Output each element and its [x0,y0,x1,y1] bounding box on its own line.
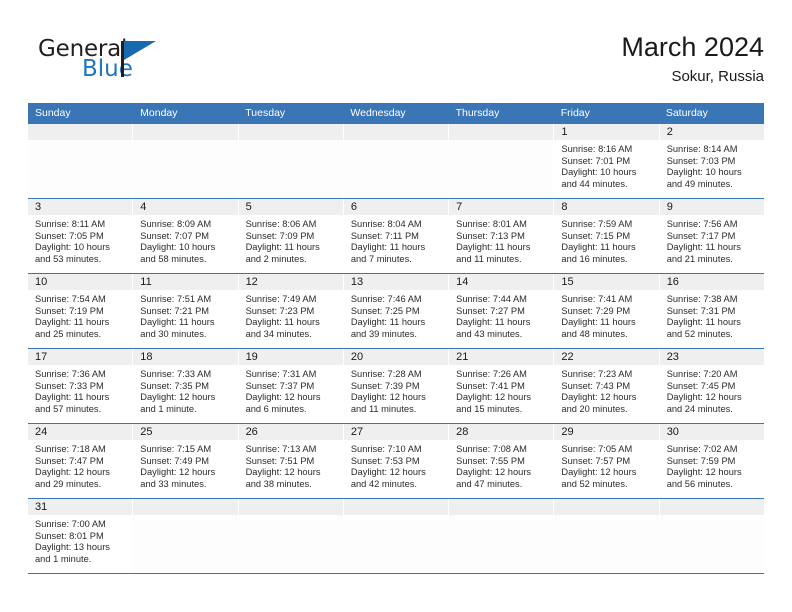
day-number-slot: 20 [344,349,448,366]
day-daylight-text: and 20 minutes. [561,404,652,416]
calendar-day-cell[interactable]: 3Sunrise: 8:11 AMSunset: 7:05 PMDaylight… [28,199,133,273]
day-daylight-text: and 58 minutes. [140,254,231,266]
calendar-day-cell[interactable]: 18Sunrise: 7:33 AMSunset: 7:35 PMDayligh… [133,349,238,423]
day-daylight-text: and 33 minutes. [140,479,231,491]
calendar-day-cell-empty [239,124,344,198]
day-details: Sunrise: 8:14 AMSunset: 7:03 PMDaylight:… [660,141,764,198]
day-number-slot [449,124,553,141]
day-number: 23 [660,349,764,366]
calendar-day-cell[interactable]: 9Sunrise: 7:56 AMSunset: 7:17 PMDaylight… [660,199,764,273]
day-daylight-text: Daylight: 10 hours [667,167,758,179]
day-daylight-text: Daylight: 12 hours [561,467,652,479]
calendar-day-cell-empty [133,124,238,198]
day-daylight-text: Daylight: 11 hours [246,317,337,329]
day-daylight-text: and 57 minutes. [35,404,126,416]
day-details: Sunrise: 8:04 AMSunset: 7:11 PMDaylight:… [344,216,448,273]
weekday-header-wednesday: Wednesday [343,103,448,124]
day-number: 8 [554,199,658,216]
day-details: Sunrise: 7:13 AMSunset: 7:51 PMDaylight:… [239,441,343,498]
calendar-day-cell[interactable]: 15Sunrise: 7:41 AMSunset: 7:29 PMDayligh… [554,274,659,348]
calendar-day-cell-empty [449,499,554,573]
day-daylight-text: Daylight: 12 hours [140,467,231,479]
day-sunrise-text: Sunrise: 8:09 AM [140,219,231,231]
day-number: 27 [344,424,448,441]
day-number: 26 [239,424,343,441]
weekday-header-tuesday: Tuesday [238,103,343,124]
day-number-slot [660,499,764,516]
day-daylight-text: Daylight: 12 hours [456,392,547,404]
day-sunrise-text: Sunrise: 7:36 AM [35,369,126,381]
day-daylight-text: and 11 minutes. [351,404,442,416]
day-number-slot: 23 [660,349,764,366]
day-daylight-text: and 47 minutes. [456,479,547,491]
day-daylight-text: and 34 minutes. [246,329,337,341]
triangle-flag-icon [124,41,156,60]
day-number-slot: 1 [554,124,658,141]
day-details [239,141,343,198]
weekday-header-row: SundayMondayTuesdayWednesdayThursdayFrid… [28,103,764,124]
day-number-slot: 2 [660,124,764,141]
day-sunrise-text: Sunrise: 7:56 AM [667,219,758,231]
day-number-slot [344,124,448,141]
day-number: 9 [660,199,764,216]
day-daylight-text: and 11 minutes. [456,254,547,266]
day-number: 14 [449,274,553,291]
general-blue-logo[interactable]: General Blue [38,38,228,90]
day-sunrise-text: Sunrise: 8:06 AM [246,219,337,231]
day-number-slot: 17 [28,349,132,366]
day-details: Sunrise: 7:36 AMSunset: 7:33 PMDaylight:… [28,366,132,423]
day-details: Sunrise: 7:05 AMSunset: 7:57 PMDaylight:… [554,441,658,498]
calendar-day-cell-empty [239,499,344,573]
day-sunset-text: Sunset: 7:19 PM [35,306,126,318]
day-daylight-text: and 21 minutes. [667,254,758,266]
day-details [133,141,237,198]
calendar-day-cell[interactable]: 12Sunrise: 7:49 AMSunset: 7:23 PMDayligh… [239,274,344,348]
day-sunrise-text: Sunrise: 7:31 AM [246,369,337,381]
day-daylight-text: and 30 minutes. [140,329,231,341]
day-sunrise-text: Sunrise: 7:41 AM [561,294,652,306]
calendar-day-cell[interactable]: 19Sunrise: 7:31 AMSunset: 7:37 PMDayligh… [239,349,344,423]
day-daylight-text: and 52 minutes. [561,479,652,491]
day-daylight-text: Daylight: 10 hours [140,242,231,254]
day-details [344,516,448,573]
day-sunrise-text: Sunrise: 7:46 AM [351,294,442,306]
day-daylight-text: Daylight: 10 hours [35,242,126,254]
day-number: 21 [449,349,553,366]
calendar-day-cell-empty [554,499,659,573]
day-daylight-text: and 48 minutes. [561,329,652,341]
location-subtitle: Sokur, Russia [621,66,764,88]
day-sunset-text: Sunset: 7:07 PM [140,231,231,243]
day-number: 20 [344,349,448,366]
day-sunset-text: Sunset: 7:03 PM [667,156,758,168]
day-details: Sunrise: 7:33 AMSunset: 7:35 PMDaylight:… [133,366,237,423]
day-sunset-text: Sunset: 7:27 PM [456,306,547,318]
day-details: Sunrise: 8:06 AMSunset: 7:09 PMDaylight:… [239,216,343,273]
day-sunrise-text: Sunrise: 7:10 AM [351,444,442,456]
day-sunrise-text: Sunrise: 8:01 AM [456,219,547,231]
calendar-day-cell[interactable]: 21Sunrise: 7:26 AMSunset: 7:41 PMDayligh… [449,349,554,423]
logo-text-blue: Blue [82,58,228,81]
day-number: 30 [660,424,764,441]
day-daylight-text: Daylight: 11 hours [561,317,652,329]
day-daylight-text: Daylight: 11 hours [351,317,442,329]
day-details: Sunrise: 7:10 AMSunset: 7:53 PMDaylight:… [344,441,448,498]
day-number-slot: 6 [344,199,448,216]
day-details: Sunrise: 8:11 AMSunset: 7:05 PMDaylight:… [28,216,132,273]
day-sunset-text: Sunset: 7:49 PM [140,456,231,468]
day-daylight-text: and 1 minute. [35,554,126,566]
day-daylight-text: Daylight: 11 hours [351,242,442,254]
day-sunset-text: Sunset: 7:59 PM [667,456,758,468]
day-number-slot: 30 [660,424,764,441]
calendar-body: 1Sunrise: 8:16 AMSunset: 7:01 PMDaylight… [28,124,764,574]
weekday-header-monday: Monday [133,103,238,124]
day-daylight-text: Daylight: 12 hours [667,392,758,404]
calendar-day-cell[interactable]: 16Sunrise: 7:38 AMSunset: 7:31 PMDayligh… [660,274,764,348]
day-number-slot: 7 [449,199,553,216]
day-sunset-text: Sunset: 7:15 PM [561,231,652,243]
day-details [133,516,237,573]
calendar-day-cell[interactable]: 13Sunrise: 7:46 AMSunset: 7:25 PMDayligh… [344,274,449,348]
day-details: Sunrise: 7:51 AMSunset: 7:21 PMDaylight:… [133,291,237,348]
day-sunset-text: Sunset: 7:37 PM [246,381,337,393]
day-number-slot: 25 [133,424,237,441]
day-sunset-text: Sunset: 7:51 PM [246,456,337,468]
day-number-slot [133,124,237,141]
day-daylight-text: and 56 minutes. [667,479,758,491]
day-daylight-text: Daylight: 12 hours [246,392,337,404]
calendar-week-row: 3Sunrise: 8:11 AMSunset: 7:05 PMDaylight… [28,198,764,273]
day-number: 16 [660,274,764,291]
day-number: 28 [449,424,553,441]
calendar-day-cell[interactable]: 10Sunrise: 7:54 AMSunset: 7:19 PMDayligh… [28,274,133,348]
day-daylight-text: Daylight: 11 hours [246,242,337,254]
day-sunset-text: Sunset: 7:41 PM [456,381,547,393]
day-details [660,516,764,573]
day-number-slot [239,499,343,516]
calendar-day-cell[interactable]: 24Sunrise: 7:18 AMSunset: 7:47 PMDayligh… [28,424,133,498]
day-details: Sunrise: 7:23 AMSunset: 7:43 PMDaylight:… [554,366,658,423]
day-daylight-text: Daylight: 11 hours [35,392,126,404]
calendar-day-cell[interactable]: 31Sunrise: 7:00 AMSunset: 8:01 PMDayligh… [28,499,133,573]
title-block: March 2024 Sokur, Russia [621,30,764,88]
day-number-slot [344,499,448,516]
day-number: 25 [133,424,237,441]
day-sunset-text: Sunset: 7:47 PM [35,456,126,468]
day-details: Sunrise: 7:00 AMSunset: 8:01 PMDaylight:… [28,516,132,573]
day-number: 6 [344,199,448,216]
page-title: March 2024 [621,30,764,64]
day-sunrise-text: Sunrise: 7:20 AM [667,369,758,381]
day-sunrise-text: Sunrise: 7:23 AM [561,369,652,381]
day-number-slot: 9 [660,199,764,216]
day-daylight-text: Daylight: 12 hours [351,392,442,404]
day-daylight-text: and 29 minutes. [35,479,126,491]
day-details [449,516,553,573]
day-sunset-text: Sunset: 7:31 PM [667,306,758,318]
calendar-day-cell-empty [344,499,449,573]
day-number-slot: 22 [554,349,658,366]
day-number-slot: 8 [554,199,658,216]
day-sunset-text: Sunset: 7:23 PM [246,306,337,318]
day-number: 10 [28,274,132,291]
day-daylight-text: Daylight: 11 hours [667,242,758,254]
day-details [344,141,448,198]
day-sunrise-text: Sunrise: 7:02 AM [667,444,758,456]
day-sunrise-text: Sunrise: 8:14 AM [667,144,758,156]
day-number: 18 [133,349,237,366]
day-sunrise-text: Sunrise: 7:59 AM [561,219,652,231]
day-daylight-text: and 24 minutes. [667,404,758,416]
calendar-day-cell[interactable]: 4Sunrise: 8:09 AMSunset: 7:07 PMDaylight… [133,199,238,273]
day-number: 24 [28,424,132,441]
calendar-day-cell-empty [344,124,449,198]
day-details: Sunrise: 8:09 AMSunset: 7:07 PMDaylight:… [133,216,237,273]
day-daylight-text: Daylight: 11 hours [561,242,652,254]
day-daylight-text: Daylight: 12 hours [667,467,758,479]
day-details: Sunrise: 7:54 AMSunset: 7:19 PMDaylight:… [28,291,132,348]
day-sunset-text: Sunset: 7:25 PM [351,306,442,318]
day-details: Sunrise: 7:44 AMSunset: 7:27 PMDaylight:… [449,291,553,348]
calendar-page: General Blue March 2024 Sokur, Russia Su… [0,0,792,612]
calendar-week-row: 24Sunrise: 7:18 AMSunset: 7:47 PMDayligh… [28,423,764,498]
day-sunrise-text: Sunrise: 7:08 AM [456,444,547,456]
day-number: 22 [554,349,658,366]
day-sunset-text: Sunset: 7:39 PM [351,381,442,393]
day-number: 15 [554,274,658,291]
day-number-slot: 18 [133,349,237,366]
day-details: Sunrise: 7:26 AMSunset: 7:41 PMDaylight:… [449,366,553,423]
day-details: Sunrise: 7:02 AMSunset: 7:59 PMDaylight:… [660,441,764,498]
day-number-slot: 27 [344,424,448,441]
day-sunset-text: Sunset: 7:09 PM [246,231,337,243]
day-daylight-text: and 25 minutes. [35,329,126,341]
calendar-day-cell[interactable]: 11Sunrise: 7:51 AMSunset: 7:21 PMDayligh… [133,274,238,348]
calendar-week-row: 31Sunrise: 7:00 AMSunset: 8:01 PMDayligh… [28,498,764,574]
day-daylight-text: Daylight: 12 hours [351,467,442,479]
calendar-day-cell[interactable]: 5Sunrise: 8:06 AMSunset: 7:09 PMDaylight… [239,199,344,273]
day-sunset-text: Sunset: 7:43 PM [561,381,652,393]
day-sunrise-text: Sunrise: 8:16 AM [561,144,652,156]
calendar-day-cell-empty [28,124,133,198]
day-number-slot: 16 [660,274,764,291]
day-details: Sunrise: 7:28 AMSunset: 7:39 PMDaylight:… [344,366,448,423]
day-details: Sunrise: 7:18 AMSunset: 7:47 PMDaylight:… [28,441,132,498]
day-daylight-text: and 43 minutes. [456,329,547,341]
day-number-slot: 13 [344,274,448,291]
day-number-slot: 11 [133,274,237,291]
day-number-slot: 10 [28,274,132,291]
day-number-slot: 4 [133,199,237,216]
day-daylight-text: Daylight: 11 hours [456,317,547,329]
day-daylight-text: Daylight: 13 hours [35,542,126,554]
day-daylight-text: and 15 minutes. [456,404,547,416]
day-daylight-text: Daylight: 12 hours [456,467,547,479]
day-sunset-text: Sunset: 7:05 PM [35,231,126,243]
calendar-day-cell[interactable]: 25Sunrise: 7:15 AMSunset: 7:49 PMDayligh… [133,424,238,498]
calendar-day-cell[interactable]: 6Sunrise: 8:04 AMSunset: 7:11 PMDaylight… [344,199,449,273]
calendar-day-cell[interactable]: 8Sunrise: 7:59 AMSunset: 7:15 PMDaylight… [554,199,659,273]
day-sunrise-text: Sunrise: 7:51 AM [140,294,231,306]
day-daylight-text: Daylight: 11 hours [35,317,126,329]
day-details: Sunrise: 7:56 AMSunset: 7:17 PMDaylight:… [660,216,764,273]
day-number: 5 [239,199,343,216]
calendar-week-row: 1Sunrise: 8:16 AMSunset: 7:01 PMDaylight… [28,124,764,198]
day-sunrise-text: Sunrise: 7:54 AM [35,294,126,306]
calendar-week-row: 10Sunrise: 7:54 AMSunset: 7:19 PMDayligh… [28,273,764,348]
day-number: 2 [660,124,764,141]
calendar-day-cell[interactable]: 30Sunrise: 7:02 AMSunset: 7:59 PMDayligh… [660,424,764,498]
day-sunset-text: Sunset: 7:55 PM [456,456,547,468]
day-number: 17 [28,349,132,366]
day-number: 7 [449,199,553,216]
day-details: Sunrise: 7:49 AMSunset: 7:23 PMDaylight:… [239,291,343,348]
day-details [239,516,343,573]
day-daylight-text: and 1 minute. [140,404,231,416]
day-sunset-text: Sunset: 7:29 PM [561,306,652,318]
day-sunset-text: Sunset: 7:13 PM [456,231,547,243]
calendar-week-row: 17Sunrise: 7:36 AMSunset: 7:33 PMDayligh… [28,348,764,423]
day-sunrise-text: Sunrise: 7:28 AM [351,369,442,381]
day-number-slot [239,124,343,141]
day-daylight-text: and 52 minutes. [667,329,758,341]
day-sunrise-text: Sunrise: 7:49 AM [246,294,337,306]
calendar-day-cell[interactable]: 28Sunrise: 7:08 AMSunset: 7:55 PMDayligh… [449,424,554,498]
day-daylight-text: and 2 minutes. [246,254,337,266]
day-number: 3 [28,199,132,216]
calendar-day-cell[interactable]: 2Sunrise: 8:14 AMSunset: 7:03 PMDaylight… [660,124,764,198]
day-sunset-text: Sunset: 7:53 PM [351,456,442,468]
day-sunset-text: Sunset: 8:01 PM [35,531,126,543]
calendar-day-cell-empty [133,499,238,573]
weekday-header-saturday: Saturday [659,103,764,124]
calendar-day-cell[interactable]: 1Sunrise: 8:16 AMSunset: 7:01 PMDaylight… [554,124,659,198]
day-number: 12 [239,274,343,291]
day-number: 11 [133,274,237,291]
day-daylight-text: Daylight: 12 hours [561,392,652,404]
day-number-slot [449,499,553,516]
day-daylight-text: and 7 minutes. [351,254,442,266]
calendar-day-cell[interactable]: 26Sunrise: 7:13 AMSunset: 7:51 PMDayligh… [239,424,344,498]
day-daylight-text: Daylight: 12 hours [246,467,337,479]
day-daylight-text: Daylight: 11 hours [140,317,231,329]
day-sunrise-text: Sunrise: 7:26 AM [456,369,547,381]
calendar-day-cell-empty [660,499,764,573]
day-sunrise-text: Sunrise: 8:04 AM [351,219,442,231]
day-number: 13 [344,274,448,291]
day-number: 4 [133,199,237,216]
day-number-slot: 26 [239,424,343,441]
day-daylight-text: Daylight: 10 hours [561,167,652,179]
day-details: Sunrise: 7:31 AMSunset: 7:37 PMDaylight:… [239,366,343,423]
day-sunrise-text: Sunrise: 7:05 AM [561,444,652,456]
weekday-header-friday: Friday [554,103,659,124]
day-daylight-text: and 38 minutes. [246,479,337,491]
day-sunrise-text: Sunrise: 7:15 AM [140,444,231,456]
day-daylight-text: Daylight: 12 hours [140,392,231,404]
calendar-day-cell[interactable]: 27Sunrise: 7:10 AMSunset: 7:53 PMDayligh… [344,424,449,498]
day-sunset-text: Sunset: 7:01 PM [561,156,652,168]
day-number-slot: 15 [554,274,658,291]
day-number-slot: 19 [239,349,343,366]
day-sunrise-text: Sunrise: 8:11 AM [35,219,126,231]
calendar-day-cell[interactable]: 17Sunrise: 7:36 AMSunset: 7:33 PMDayligh… [28,349,133,423]
day-sunset-text: Sunset: 7:21 PM [140,306,231,318]
day-sunrise-text: Sunrise: 7:38 AM [667,294,758,306]
day-number: 29 [554,424,658,441]
day-number-slot: 21 [449,349,553,366]
calendar-day-cell[interactable]: 14Sunrise: 7:44 AMSunset: 7:27 PMDayligh… [449,274,554,348]
day-details [449,141,553,198]
day-number-slot: 12 [239,274,343,291]
day-daylight-text: and 42 minutes. [351,479,442,491]
day-number-slot: 31 [28,499,132,516]
day-sunrise-text: Sunrise: 7:13 AM [246,444,337,456]
calendar-day-cell[interactable]: 29Sunrise: 7:05 AMSunset: 7:57 PMDayligh… [554,424,659,498]
day-details [28,141,132,198]
day-sunrise-text: Sunrise: 7:18 AM [35,444,126,456]
day-number-slot [554,499,658,516]
weekday-header-thursday: Thursday [449,103,554,124]
day-number: 19 [239,349,343,366]
day-daylight-text: and 53 minutes. [35,254,126,266]
day-details: Sunrise: 7:46 AMSunset: 7:25 PMDaylight:… [344,291,448,348]
calendar-day-cell[interactable]: 20Sunrise: 7:28 AMSunset: 7:39 PMDayligh… [344,349,449,423]
calendar-day-cell[interactable]: 23Sunrise: 7:20 AMSunset: 7:45 PMDayligh… [660,349,764,423]
day-number-slot: 5 [239,199,343,216]
day-daylight-text: and 49 minutes. [667,179,758,191]
day-number-slot: 3 [28,199,132,216]
day-sunset-text: Sunset: 7:33 PM [35,381,126,393]
masthead: General Blue March 2024 Sokur, Russia [28,30,764,92]
day-details: Sunrise: 8:01 AMSunset: 7:13 PMDaylight:… [449,216,553,273]
day-daylight-text: and 6 minutes. [246,404,337,416]
day-details: Sunrise: 8:16 AMSunset: 7:01 PMDaylight:… [554,141,658,198]
calendar-day-cell-empty [449,124,554,198]
day-details [554,516,658,573]
day-daylight-text: Daylight: 11 hours [456,242,547,254]
day-sunset-text: Sunset: 7:11 PM [351,231,442,243]
weekday-header-sunday: Sunday [28,103,133,124]
calendar-grid: SundayMondayTuesdayWednesdayThursdayFrid… [28,103,764,574]
calendar-day-cell[interactable]: 7Sunrise: 8:01 AMSunset: 7:13 PMDaylight… [449,199,554,273]
day-daylight-text: and 39 minutes. [351,329,442,341]
day-details: Sunrise: 7:38 AMSunset: 7:31 PMDaylight:… [660,291,764,348]
day-sunrise-text: Sunrise: 7:44 AM [456,294,547,306]
calendar-day-cell[interactable]: 22Sunrise: 7:23 AMSunset: 7:43 PMDayligh… [554,349,659,423]
day-number-slot: 29 [554,424,658,441]
day-number-slot [133,499,237,516]
day-details: Sunrise: 7:15 AMSunset: 7:49 PMDaylight:… [133,441,237,498]
day-daylight-text: and 16 minutes. [561,254,652,266]
day-number: 1 [554,124,658,141]
day-daylight-text: and 44 minutes. [561,179,652,191]
day-sunrise-text: Sunrise: 7:00 AM [35,519,126,531]
day-daylight-text: Daylight: 12 hours [35,467,126,479]
day-number: 31 [28,499,132,516]
day-details: Sunrise: 7:41 AMSunset: 7:29 PMDaylight:… [554,291,658,348]
day-details: Sunrise: 7:20 AMSunset: 7:45 PMDaylight:… [660,366,764,423]
day-sunset-text: Sunset: 7:17 PM [667,231,758,243]
day-number-slot: 24 [28,424,132,441]
day-number-slot: 28 [449,424,553,441]
day-sunset-text: Sunset: 7:45 PM [667,381,758,393]
day-details: Sunrise: 7:08 AMSunset: 7:55 PMDaylight:… [449,441,553,498]
day-number-slot: 14 [449,274,553,291]
day-sunrise-text: Sunrise: 7:33 AM [140,369,231,381]
